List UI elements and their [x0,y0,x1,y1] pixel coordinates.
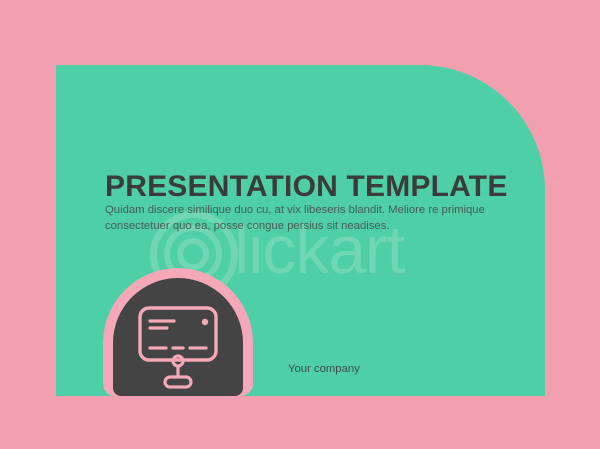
monitor-display-icon [132,298,224,390]
slide-canvas: lickart PRESENTATION TEMPLATE Quidam dis… [0,0,600,449]
slide-body-text: Quidam discere similique duo cu, at vix … [105,203,519,234]
slide-headline: PRESENTATION TEMPLATE [105,170,508,204]
company-label: Your company [288,361,360,377]
icon-badge [103,268,253,396]
